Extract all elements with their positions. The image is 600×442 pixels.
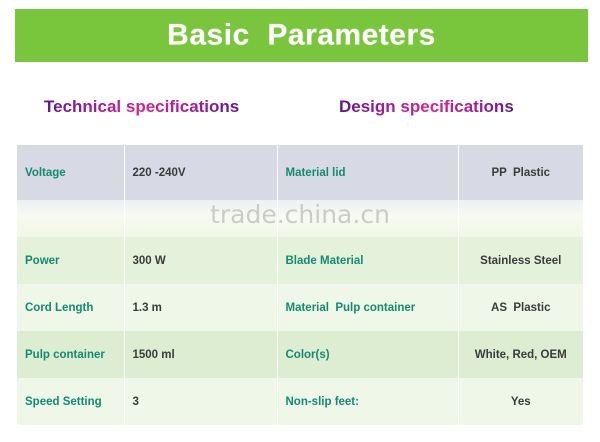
page-title: Basic Parameters (15, 18, 588, 52)
heading-technical-specifications: Technical specifications (44, 97, 239, 117)
design-value-cell: Yes (458, 378, 583, 425)
design-label-cell: Non-slip feet: (277, 378, 458, 425)
table-row: Pulp container 1500 ml Color(s) White, R… (17, 331, 583, 378)
table-row-spacer (17, 200, 583, 237)
specifications-table-body: Voltage 220 -240V Material lid PP Plasti… (17, 145, 583, 425)
design-label-cell: Material Pulp container (277, 284, 458, 331)
technical-value-cell: 3 (124, 378, 277, 425)
technical-label-cell: Voltage (17, 145, 124, 200)
technical-value-cell: 220 -240V (124, 145, 277, 200)
technical-label-cell (17, 200, 124, 237)
design-label-cell: Blade Material (277, 237, 458, 284)
technical-label-cell: Power (17, 237, 124, 284)
specifications-table: Voltage 220 -240V Material lid PP Plasti… (17, 145, 583, 425)
technical-label-cell: Cord Length (17, 284, 124, 331)
technical-value-cell (124, 200, 277, 237)
table-row: Voltage 220 -240V Material lid PP Plasti… (17, 145, 583, 200)
technical-value-cell: 300 W (124, 237, 277, 284)
technical-label-cell: Speed Setting (17, 378, 124, 425)
technical-label-cell: Pulp container (17, 331, 124, 378)
design-label-cell: Material lid (277, 145, 458, 200)
table-row: Power 300 W Blade Material Stainless Ste… (17, 237, 583, 284)
title-banner: Basic Parameters (15, 9, 588, 62)
design-value-cell: White, Red, OEM (458, 331, 583, 378)
design-value-cell: PP Plastic (458, 145, 583, 200)
design-label-cell: Color(s) (277, 331, 458, 378)
technical-value-cell: 1500 ml (124, 331, 277, 378)
table-row: Cord Length 1.3 m Material Pulp containe… (17, 284, 583, 331)
design-value-cell: AS Plastic (458, 284, 583, 331)
design-label-cell (277, 200, 458, 237)
heading-design-specifications: Design specifications (339, 97, 514, 117)
table-row: Speed Setting 3 Non-slip feet: Yes (17, 378, 583, 425)
design-value-cell (458, 200, 583, 237)
design-value-cell: Stainless Steel (458, 237, 583, 284)
technical-value-cell: 1.3 m (124, 284, 277, 331)
